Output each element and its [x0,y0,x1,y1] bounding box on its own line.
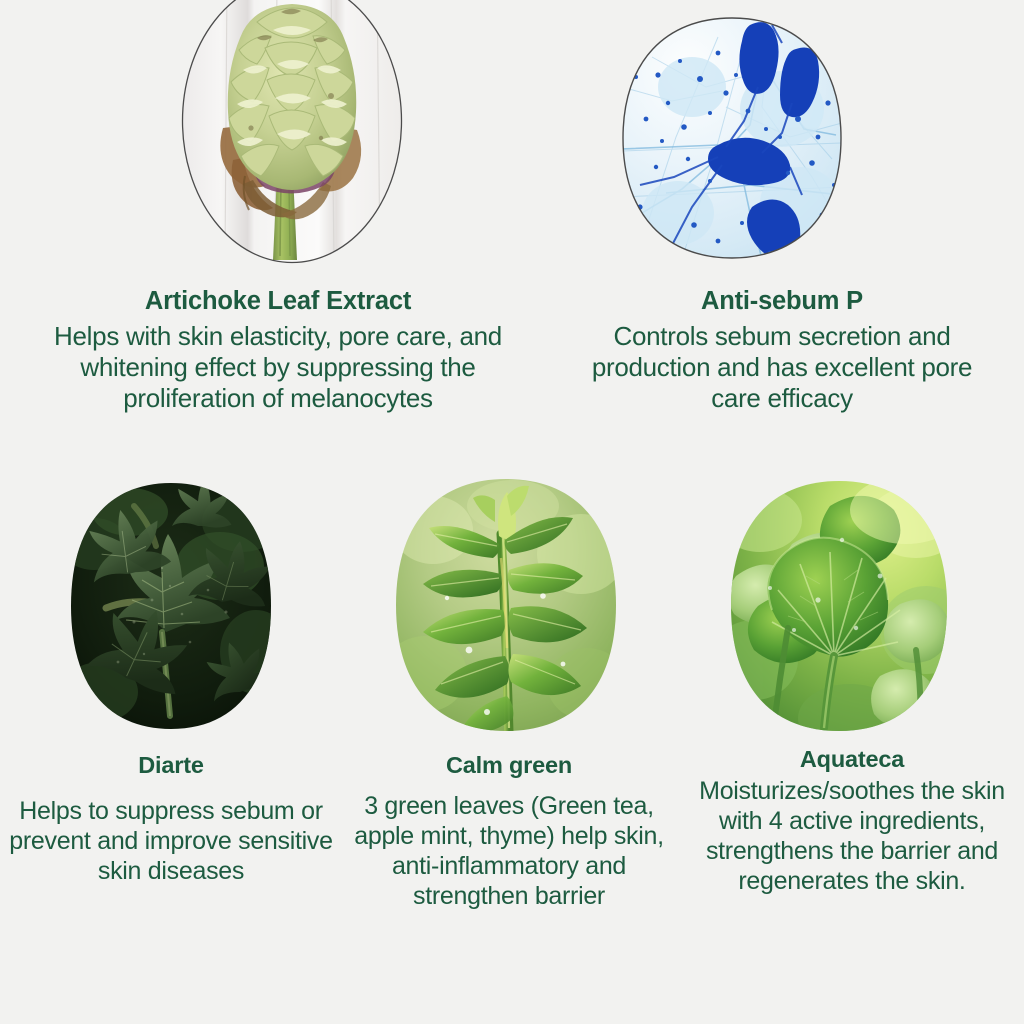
ingredient-card-calm-green: Calm green 3 green leaves (Green tea, ap… [332,470,686,911]
ingredient-card-aquateca: Aquateca Moisturizes/soothes the skin wi… [680,470,1024,896]
green-tea-photo [395,478,617,732]
ingredient-description: Helps to suppress sebum or prevent and i… [0,796,342,886]
ingredient-name: Aquateca [680,747,1024,772]
artichoke-photo [181,0,403,264]
ingredient-name: Diarte [0,753,342,778]
microscopy-photo [622,17,842,259]
ingredient-description: 3 green leaves (Green tea, apple mint, t… [332,791,686,911]
ingredient-card-anti-sebum-p: Anti-sebum P Controls sebum secretion an… [540,0,1024,414]
mugwort-photo [70,482,272,730]
ingredient-name: Artichoke Leaf Extract [0,288,556,316]
ingredient-name: Calm green [332,753,686,778]
ingredient-name: Anti-sebum P [540,288,1024,316]
ingredient-card-diarte: Diarte Helps to suppress sebum or preven… [0,470,342,886]
ingredient-description: Controls sebum secretion and production … [540,321,1024,415]
ingredient-description: Moisturizes/soothes the skin with 4 acti… [680,776,1024,896]
ingredient-card-artichoke: Artichoke Leaf Extract Helps with skin e… [0,0,556,414]
centella-photo [730,480,948,732]
ingredient-description: Helps with skin elasticity, pore care, a… [0,321,556,415]
ingredient-infographic: Artichoke Leaf Extract Helps with skin e… [0,0,1024,1024]
